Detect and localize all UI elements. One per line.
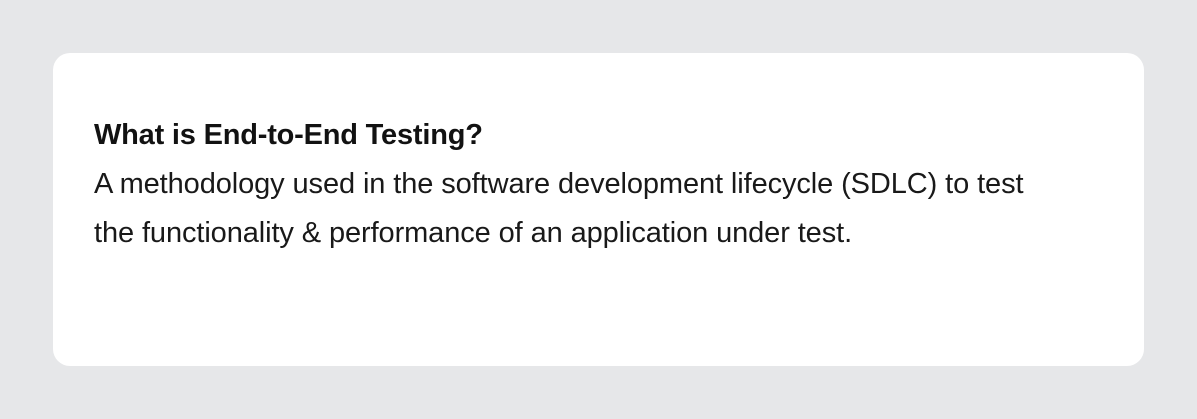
- card-body-text: A methodology used in the software devel…: [94, 160, 1054, 258]
- page-root: What is End-to-End Testing? A methodolog…: [0, 0, 1197, 419]
- card-heading: What is End-to-End Testing?: [94, 111, 1094, 160]
- definition-card: What is End-to-End Testing? A methodolog…: [53, 53, 1144, 366]
